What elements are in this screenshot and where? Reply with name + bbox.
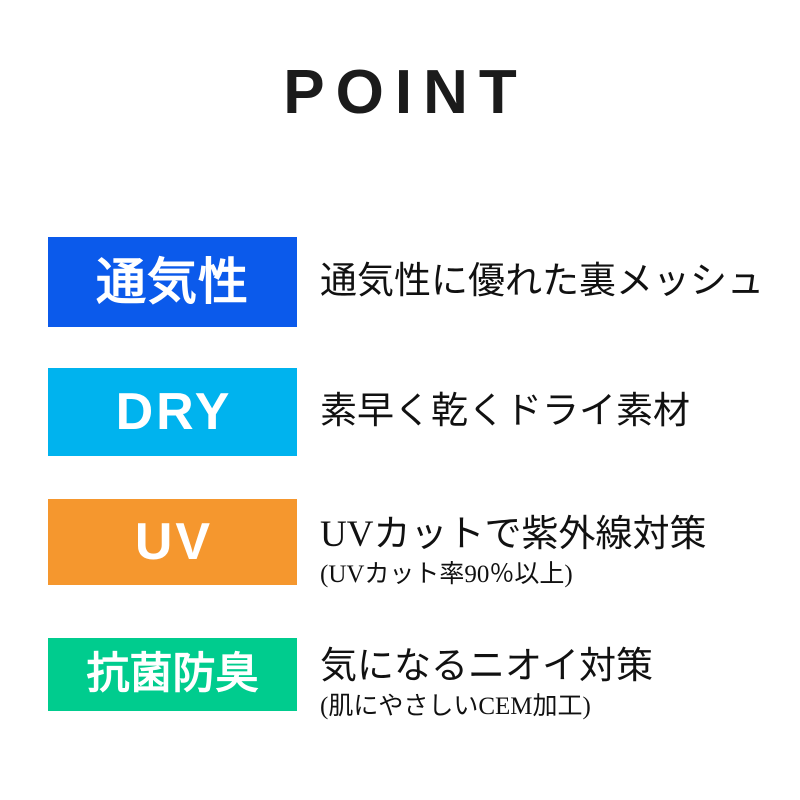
feature-description-dry: 素早く乾くドライ素材 [320, 393, 758, 430]
feature-text-dry: 素早く乾くドライ素材 [297, 368, 758, 430]
feature-description-deodorant: 気になるニオイ対策 [320, 648, 758, 685]
badge-uv: UV [48, 499, 297, 585]
feature-row-breathable: 通気性 通気性に優れた裏メッシュ [48, 237, 758, 368]
feature-row-dry: DRY 素早く乾くドライ素材 [48, 368, 758, 499]
point-feature-panel: POINT 通気性 通気性に優れた裏メッシュ DRY 素早く乾くドライ素材 UV… [0, 0, 800, 800]
feature-text-uv: UVカットで紫外線対策 (UVカット率90％以上) [297, 499, 758, 587]
feature-text-breathable: 通気性に優れた裏メッシュ [297, 237, 764, 300]
badge-deodorant: 抗菌防臭 [48, 638, 297, 711]
badge-breathable: 通気性 [48, 237, 297, 327]
feature-row-deodorant: 抗菌防臭 気になるニオイ対策 (肌にやさしいCEM加工) [48, 638, 758, 728]
feature-description-breathable: 通気性に優れた裏メッシュ [320, 263, 764, 300]
feature-subdescription-uv: (UVカット率90％以上) [320, 562, 758, 587]
feature-row-uv: UV UVカットで紫外線対策 (UVカット率90％以上) [48, 499, 758, 638]
feature-text-deodorant: 気になるニオイ対策 (肌にやさしいCEM加工) [297, 638, 758, 719]
feature-description-uv: UVカットで紫外線対策 [320, 516, 758, 553]
feature-subdescription-deodorant: (肌にやさしいCEM加工) [320, 694, 758, 719]
badge-dry: DRY [48, 368, 297, 456]
feature-list: 通気性 通気性に優れた裏メッシュ DRY 素早く乾くドライ素材 UV UVカット… [48, 237, 758, 728]
page-title: POINT [0, 62, 800, 124]
